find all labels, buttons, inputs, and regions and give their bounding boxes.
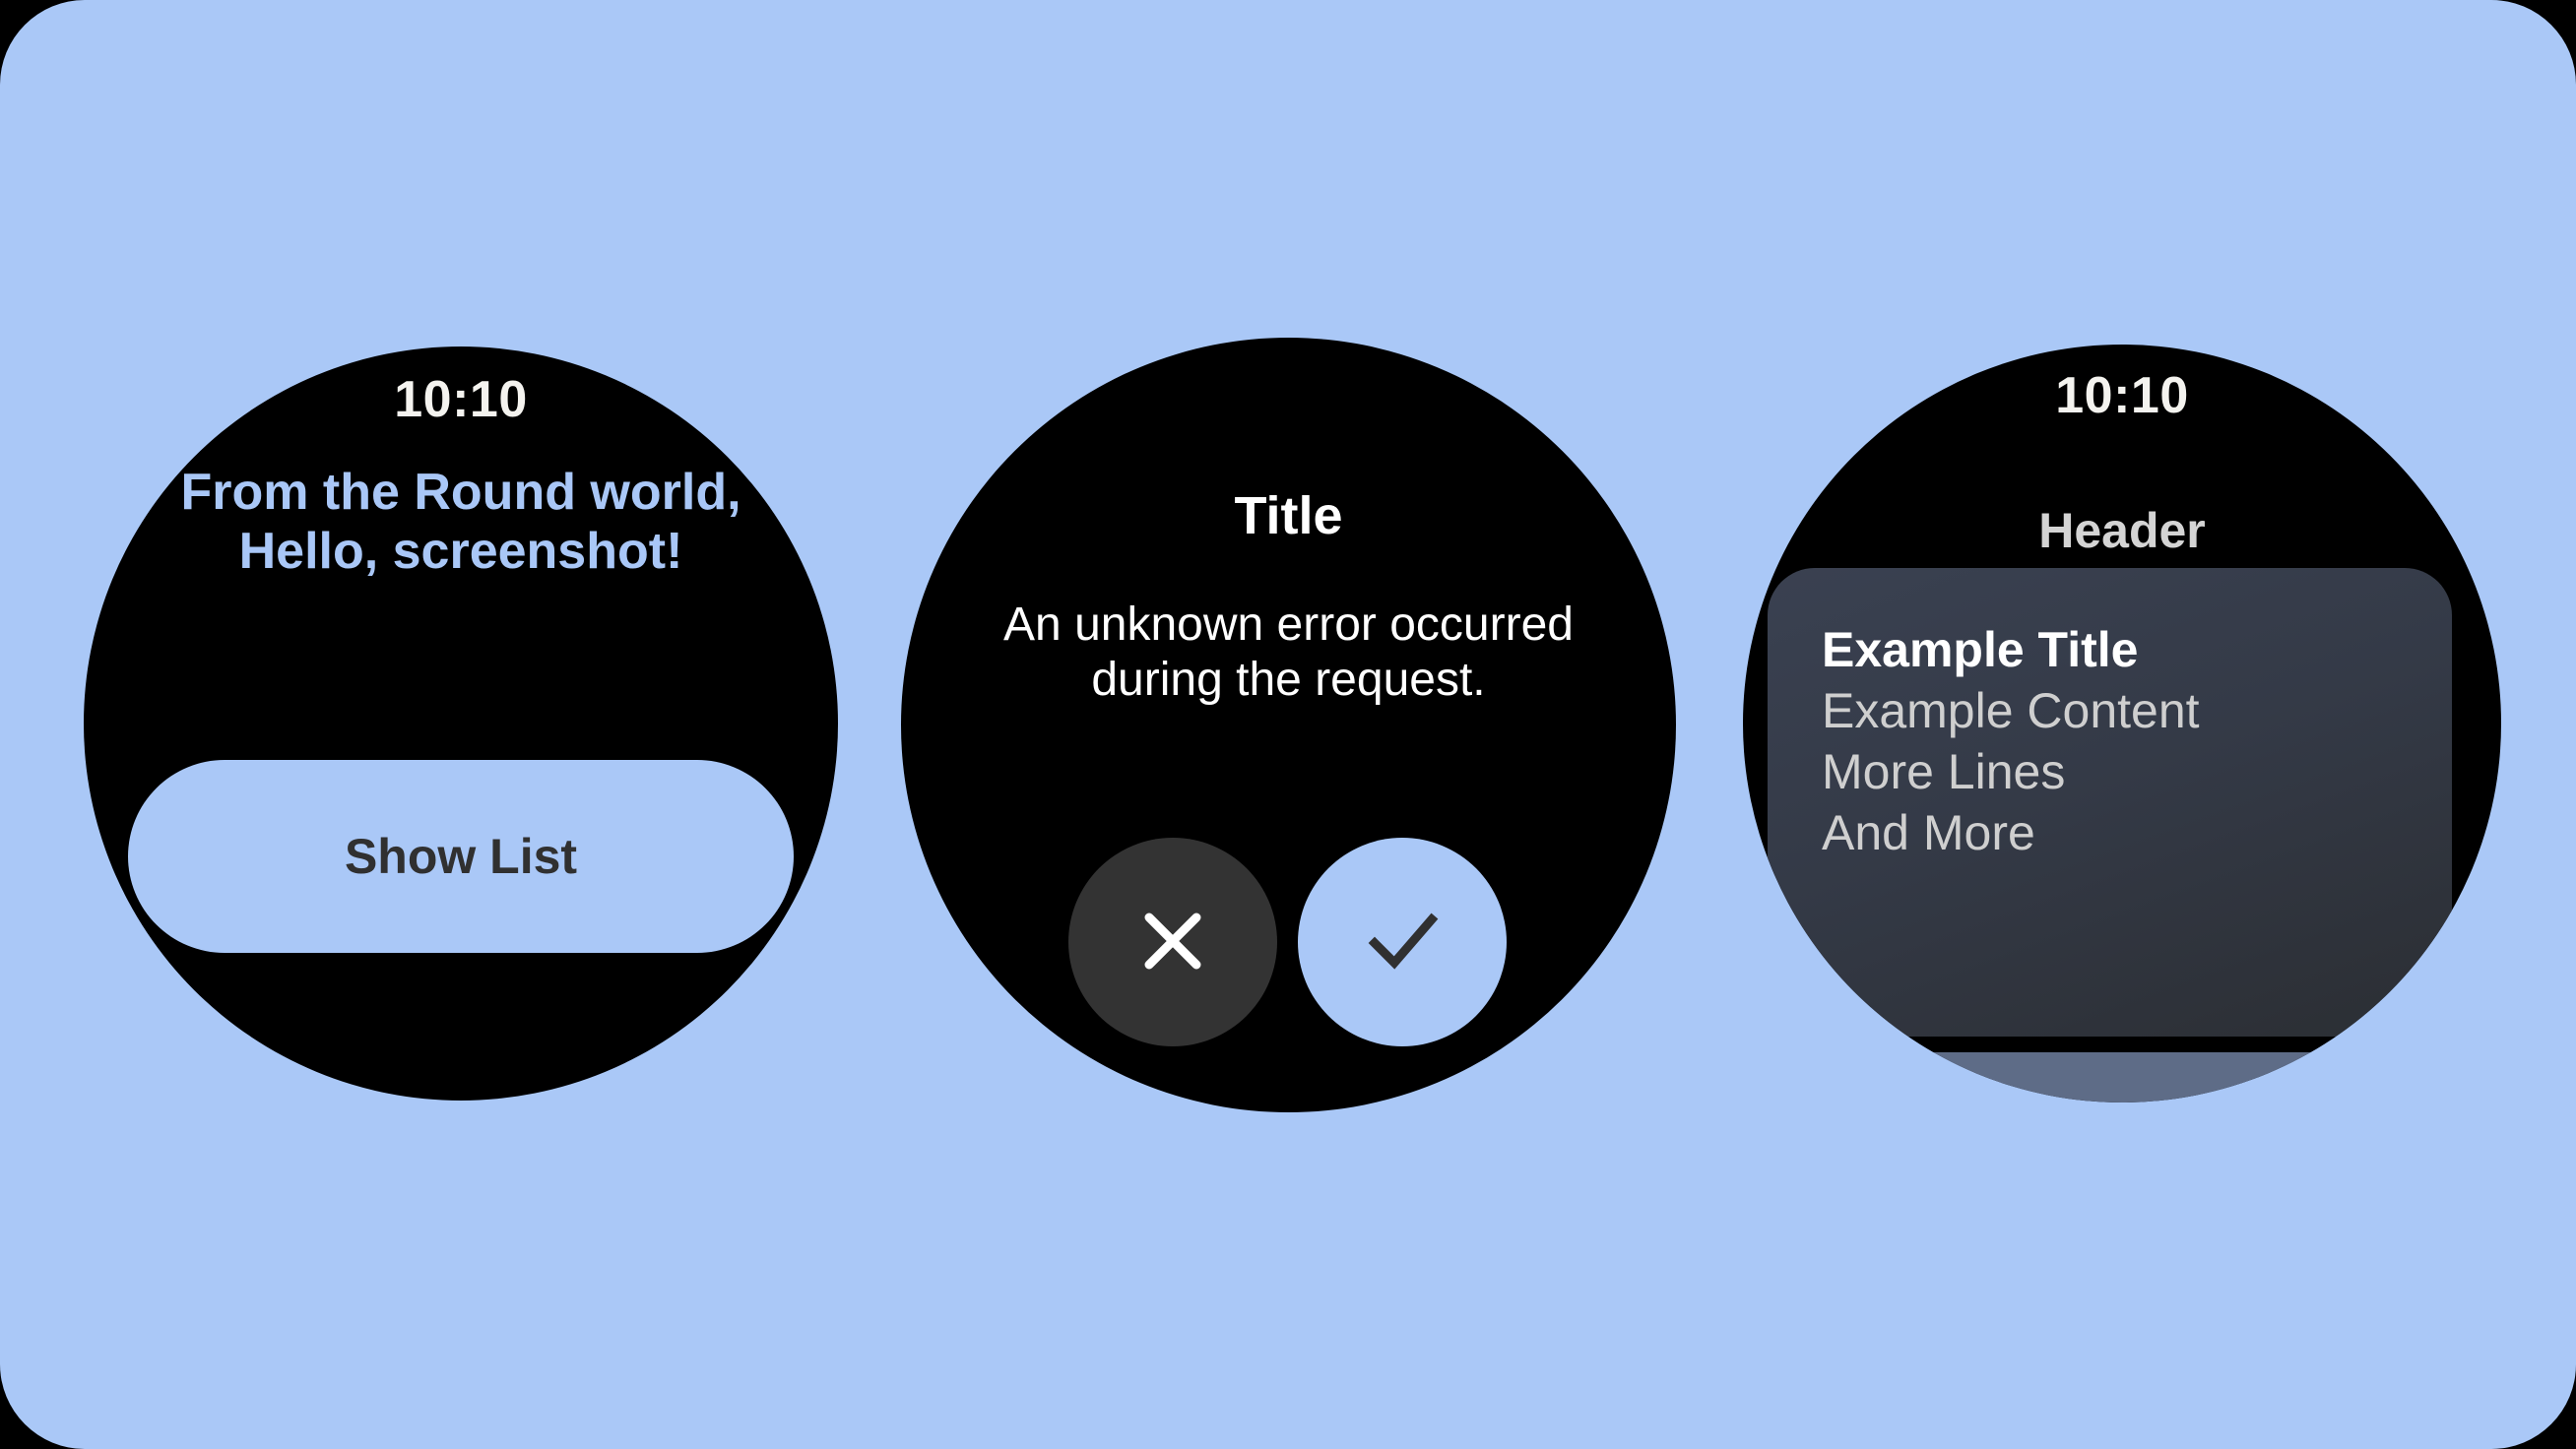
close-x-icon	[1126, 894, 1220, 991]
watch-face-round-hello: 10:10 From the Round world, Hello, scree…	[84, 346, 838, 1101]
card-divider	[1743, 1037, 2501, 1052]
example-card[interactable]: Example Title Example Content More Lines…	[1768, 568, 2452, 1037]
watch-face-alert-dialog: Title An unknown error occurred during t…	[901, 338, 1676, 1112]
check-icon	[1351, 890, 1453, 995]
bottom-scrim	[1743, 1052, 2501, 1102]
show-list-button[interactable]: Show List	[128, 760, 794, 953]
card-title: Example Title	[1822, 619, 2452, 680]
greeting-text: From the Round world, Hello, screenshot!	[125, 463, 797, 581]
card-line: And More	[1822, 802, 2452, 863]
dialog-title: Title	[901, 485, 1676, 546]
status-time: 10:10	[1743, 366, 2501, 425]
watch-face-card-list: 10:10 Header Example Title Example Conte…	[1743, 345, 2501, 1102]
screen-header: Header	[1743, 502, 2501, 559]
confirm-button[interactable]	[1298, 838, 1507, 1046]
screenshot-canvas: 10:10 From the Round world, Hello, scree…	[0, 0, 2576, 1449]
card-line: Example Content	[1822, 680, 2452, 741]
dismiss-button[interactable]	[1068, 838, 1277, 1046]
status-time: 10:10	[84, 370, 838, 429]
card-line: More Lines	[1822, 741, 2452, 802]
dialog-message: An unknown error occurred during the req…	[948, 598, 1629, 708]
